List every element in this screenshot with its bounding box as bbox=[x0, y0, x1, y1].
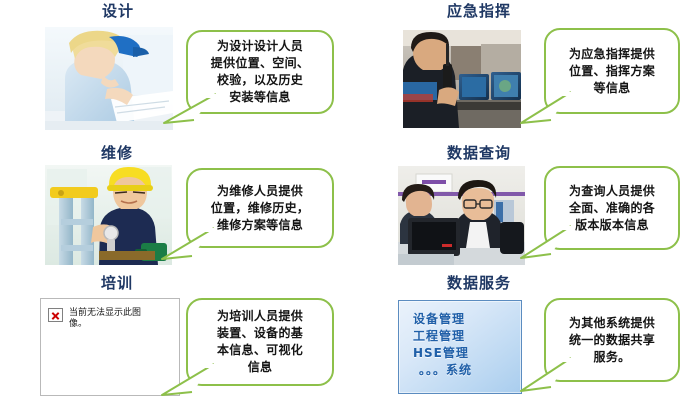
photo-design-illustration bbox=[45, 27, 173, 130]
bubble-data-query: 为查询人员提供 全面、准确的各 版本版本信息 bbox=[544, 166, 680, 250]
panel-title-emergency-command: 应急指挥 bbox=[359, 2, 599, 20]
image-placeholder-training: 当前无法显示此图像。 bbox=[40, 298, 180, 396]
panel-title-training: 培训 bbox=[0, 274, 234, 292]
panel-training: 培训 当前无法显示此图像。 为培训人员提供 装置、设备的基 本信息、可视化 信息 bbox=[0, 270, 340, 400]
panel-maintenance: 维修 bbox=[0, 140, 340, 275]
panel-title-data-service: 数据服务 bbox=[359, 274, 599, 292]
bubble-text-training: 为培训人员提供 装置、设备的基 本信息、可视化 信息 bbox=[209, 308, 311, 376]
panel-data-service: 数据服务 设备管理 工程管理 HSE管理 。。。系统 为其他系统提供 统一的数据… bbox=[341, 270, 681, 400]
bubble-text-data-query: 为查询人员提供 全面、准确的各 版本版本信息 bbox=[561, 183, 663, 234]
bubble-text-data-service: 为其他系统提供 统一的数据共享 服务。 bbox=[561, 315, 663, 366]
bubble-maintenance: 为维修人员提供 位置，维修历史， 维修方案等信息 bbox=[186, 168, 334, 248]
photo-maintenance bbox=[45, 165, 172, 265]
bubble-design: 为设计设计人员 提供位置、空间、 校验，以及历史 安装等信息 bbox=[186, 30, 334, 114]
photo-emergency-command bbox=[403, 30, 521, 128]
bubble-text-design: 为设计设计人员 提供位置、空间、 校验，以及历史 安装等信息 bbox=[203, 38, 317, 106]
system-list-box: 设备管理 工程管理 HSE管理 。。。系统 bbox=[398, 300, 522, 394]
photo-design bbox=[45, 27, 173, 130]
bubble-text-emergency-command: 为应急指挥提供 位置、指挥方案 等信息 bbox=[561, 46, 663, 97]
system-list-item-2: HSE管理 bbox=[413, 345, 521, 362]
diagram-canvas: 设计 bbox=[0, 0, 681, 400]
photo-maintenance-illustration bbox=[45, 165, 172, 265]
panel-data-query: 数据查询 bbox=[341, 140, 681, 275]
bubble-data-service: 为其他系统提供 统一的数据共享 服务。 bbox=[544, 298, 680, 382]
bubble-training: 为培训人员提供 装置、设备的基 本信息、可视化 信息 bbox=[186, 298, 334, 386]
panel-title-data-query: 数据查询 bbox=[359, 144, 599, 162]
panel-emergency-command: 应急指挥 bbox=[341, 0, 681, 140]
image-placeholder-text: 当前无法显示此图像。 bbox=[69, 308, 151, 330]
photo-data-query bbox=[398, 166, 525, 265]
system-list-item-3: 。。。系统 bbox=[413, 362, 521, 379]
system-list-item-1: 工程管理 bbox=[413, 328, 521, 345]
bubble-emergency-command: 为应急指挥提供 位置、指挥方案 等信息 bbox=[544, 28, 680, 114]
panel-title-design: 设计 bbox=[0, 2, 236, 20]
photo-emergency-command-illustration bbox=[403, 30, 521, 128]
photo-data-query-illustration bbox=[398, 166, 525, 265]
panel-title-maintenance: 维修 bbox=[0, 144, 234, 162]
system-list-item-0: 设备管理 bbox=[413, 311, 521, 328]
panel-design: 设计 bbox=[0, 0, 340, 140]
broken-image-icon bbox=[48, 308, 63, 322]
bubble-text-maintenance: 为维修人员提供 位置，维修历史， 维修方案等信息 bbox=[203, 183, 317, 234]
